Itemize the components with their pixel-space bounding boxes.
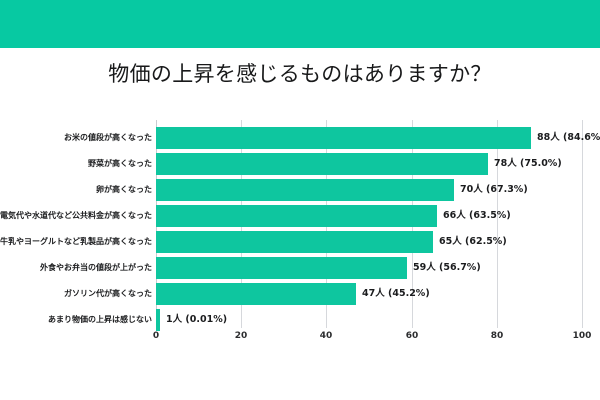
plot-area: お米の値段が高くなった88人 (84.6%)野菜が高くなった78人 (75.0%… (0, 120, 600, 335)
bar-row[interactable]: お米の値段が高くなった88人 (84.6%) (0, 127, 600, 149)
bar-value-label: 65人 (62.5%) (439, 231, 507, 253)
category-label: 野菜が高くなった (88, 153, 152, 175)
bar-series: お米の値段が高くなった88人 (84.6%)野菜が高くなった78人 (75.0%… (0, 120, 600, 328)
bar[interactable] (156, 179, 454, 201)
bar[interactable] (156, 153, 488, 175)
x-tick-label: 60 (406, 331, 419, 341)
x-tick-label: 20 (235, 331, 248, 341)
bar[interactable] (156, 127, 531, 149)
bar-row[interactable]: ガソリン代が高くなった47人 (45.2%) (0, 283, 600, 305)
x-tick-label: 100 (573, 331, 592, 341)
bar-row[interactable]: 野菜が高くなった78人 (75.0%) (0, 153, 600, 175)
bar-row[interactable]: 卵が高くなった70人 (67.3%) (0, 179, 600, 201)
bar-value-label: 59人 (56.7%) (413, 257, 481, 279)
chart-title: 物価の上昇を感じるものはありますか？ (0, 58, 600, 88)
bar[interactable] (156, 205, 437, 227)
header-accent-bar (0, 0, 600, 48)
bar[interactable] (156, 283, 356, 305)
bar-value-label: 47人 (45.2%) (362, 283, 430, 305)
bar-row[interactable]: 外食やお弁当の値段が上がった59人 (56.7%) (0, 257, 600, 279)
x-axis: 020406080100 (0, 328, 600, 352)
bar[interactable] (156, 231, 433, 253)
category-label: お米の値段が高くなった (64, 127, 152, 149)
category-label: 外食やお弁当の値段が上がった (40, 257, 152, 279)
bar-value-label: 78人 (75.0%) (494, 153, 562, 175)
category-label: ガソリン代が高くなった (64, 283, 152, 305)
category-label: 牛乳やヨーグルトなど乳製品が高くなった (0, 231, 152, 253)
bar-row[interactable]: 牛乳やヨーグルトなど乳製品が高くなった65人 (62.5%) (0, 231, 600, 253)
bar-value-label: 66人 (63.5%) (443, 205, 511, 227)
bar-value-label: 70人 (67.3%) (460, 179, 528, 201)
x-tick-label: 40 (320, 331, 333, 341)
bar[interactable] (156, 257, 407, 279)
category-label: 電気代や水道代など公共料金が高くなった (0, 205, 152, 227)
x-tick-label: 0 (153, 331, 159, 341)
category-label: 卵が高くなった (96, 179, 152, 201)
bar-value-label: 88人 (84.6%) (537, 127, 600, 149)
x-tick-label: 80 (491, 331, 504, 341)
chart-page: 物価の上昇を感じるものはありますか？ お米の値段が高くなった88人 (84.6%… (0, 0, 600, 400)
bar-row[interactable]: 電気代や水道代など公共料金が高くなった66人 (63.5%) (0, 205, 600, 227)
